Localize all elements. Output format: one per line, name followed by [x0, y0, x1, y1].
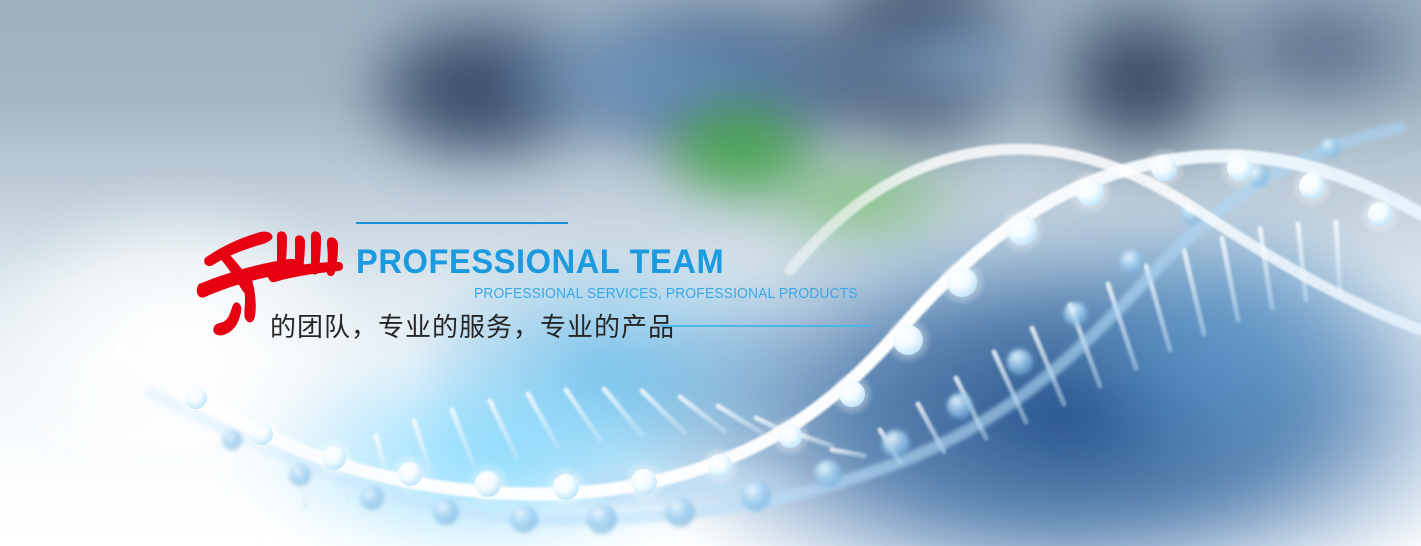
banner-text-block: PROFESSIONAL TEAM PROFESSIONAL SERVICES,…: [0, 0, 1421, 546]
rule-below-tagline: [660, 325, 872, 327]
page-subtitle: PROFESSIONAL SERVICES, PROFESSIONAL PROD…: [474, 286, 858, 302]
page-title: PROFESSIONAL TEAM: [356, 243, 724, 282]
rule-above-headline: [356, 222, 568, 224]
hero-banner: PROFESSIONAL TEAM PROFESSIONAL SERVICES,…: [0, 0, 1421, 546]
chinese-tagline: 的团队，专业的服务，专业的产品: [270, 307, 675, 344]
